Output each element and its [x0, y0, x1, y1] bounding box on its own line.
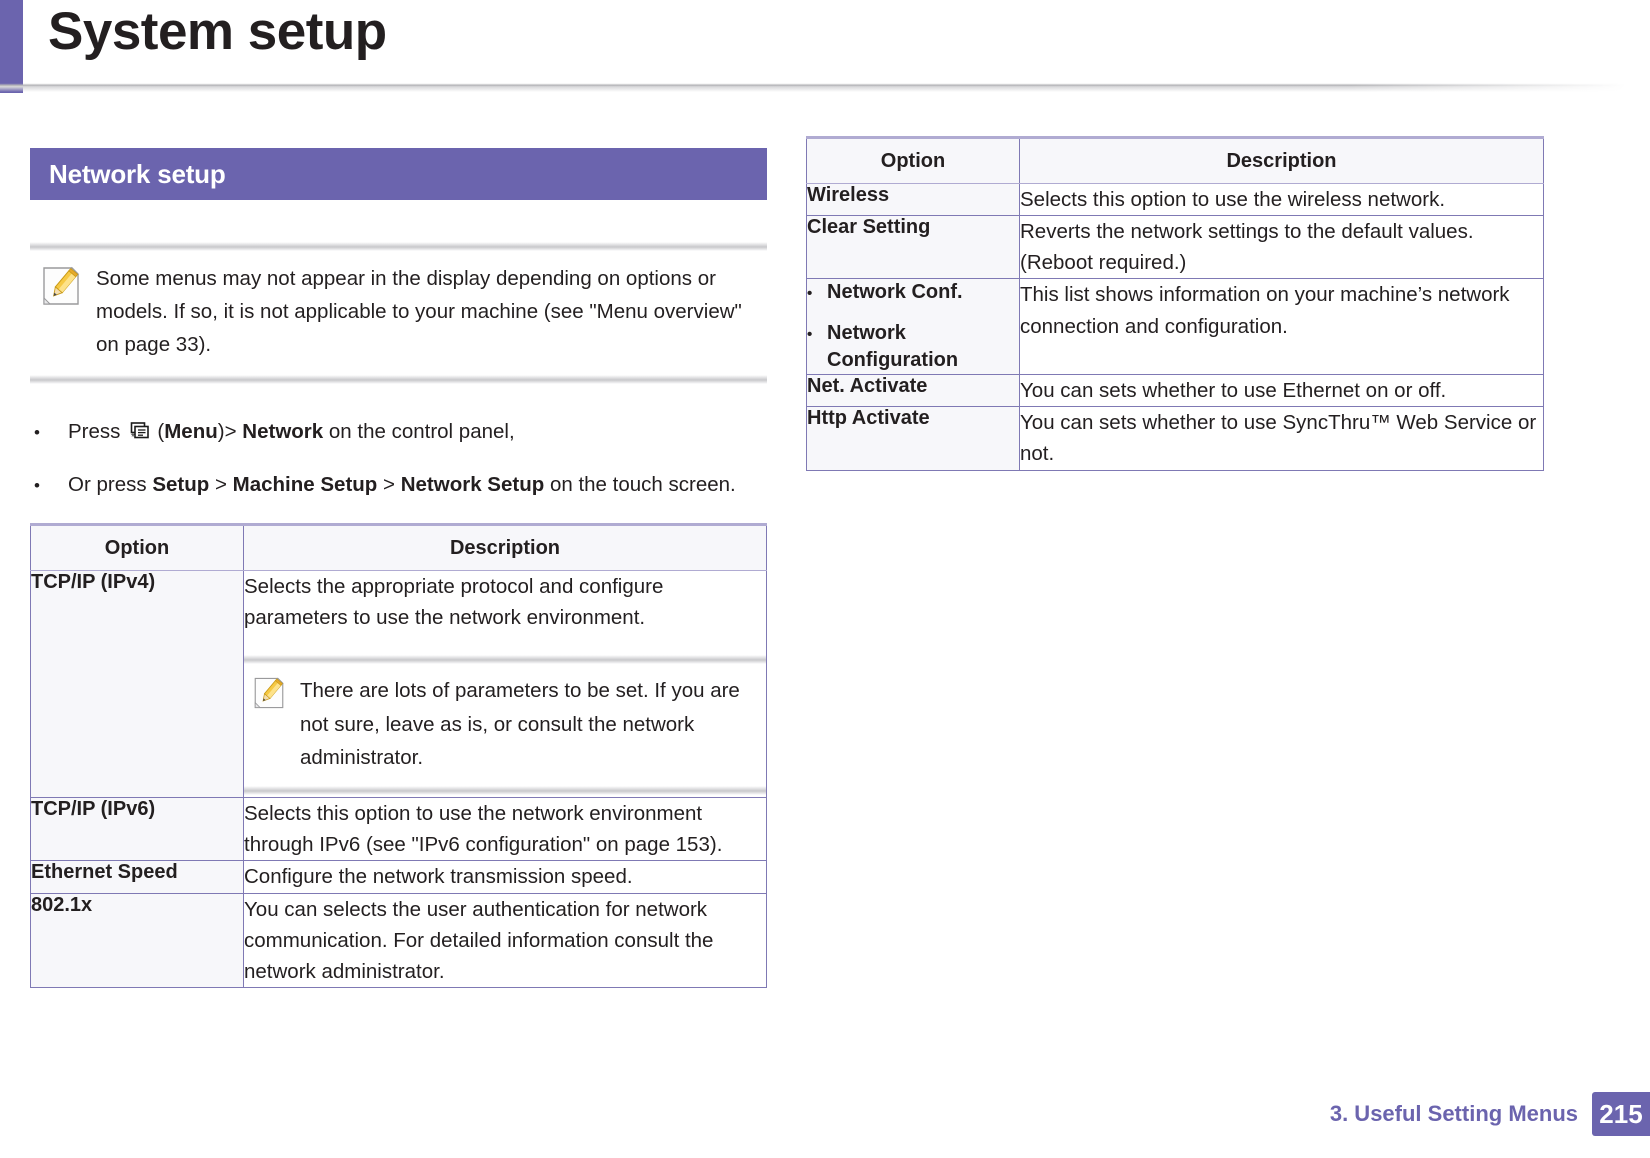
bullet-dot-icon: •	[807, 285, 827, 302]
svg-text:*: *	[131, 432, 135, 442]
bullet-text: Press*(Menu)> Network on the control pan…	[68, 416, 767, 448]
column-header-description: Description	[1020, 138, 1544, 184]
bullet-bold-setup: Setup	[152, 473, 209, 496]
table-row: 802.1x You can selects the user authenti…	[31, 893, 767, 987]
table-row: Http Activate You can sets whether to us…	[807, 407, 1544, 470]
note-pencil-icon	[40, 265, 82, 307]
option-cell: • Network Conf. • Network Configuration	[807, 279, 1020, 375]
bullet-text: Or press Setup > Machine Setup > Network…	[68, 469, 767, 501]
option-cell: Clear Setting	[807, 216, 1020, 279]
inner-note-text: There are lots of parameters to be set. …	[286, 674, 766, 774]
description-cell: Configure the network transmission speed…	[244, 861, 767, 893]
description-cell: This list shows information on your mach…	[1020, 279, 1544, 375]
bullet-bold-network-setup: Network Setup	[401, 473, 545, 496]
option-cell: Net. Activate	[807, 375, 1020, 407]
description-cell: You can sets whether to use SyncThru™ We…	[1020, 407, 1544, 470]
list-item: • Network Conf.	[807, 279, 1019, 306]
note-text: Some menus may not appear in the display…	[82, 262, 767, 362]
description-cell: Reverts the network settings to the defa…	[1020, 216, 1544, 279]
list-item: • Or press Setup > Machine Setup > Netwo…	[30, 469, 767, 501]
option-cell: TCP/IP (IPv4)	[31, 571, 244, 798]
section-banner: Network setup	[30, 148, 767, 200]
list-item: • Press*(Menu)> Network on the control p…	[30, 416, 767, 448]
table-row: TCP/IP (IPv4) Selects the appropriate pr…	[31, 571, 767, 798]
option-cell: 802.1x	[31, 893, 244, 987]
bullet-paren-close: )>	[218, 420, 237, 443]
bullet-dot-icon: •	[30, 420, 68, 446]
page-footer: 3. Useful Setting Menus 215	[1330, 1092, 1650, 1136]
bullet-bold-machine-setup: Machine Setup	[233, 473, 378, 496]
inner-note-top-rule	[244, 655, 766, 664]
note-bottom-rule	[30, 375, 767, 384]
bullet-prefix: Press	[68, 420, 120, 443]
table-row: Ethernet Speed Configure the network tra…	[31, 861, 767, 893]
description-cell: You can sets whether to use Ethernet on …	[1020, 375, 1544, 407]
sub-bullet-label: Network Configuration	[827, 320, 1019, 374]
bullet-prefix: Or press	[68, 473, 147, 496]
menu-icon: *	[130, 420, 152, 442]
note-top-rule	[30, 242, 767, 251]
left-column: Network setup Some menus	[30, 148, 767, 988]
column-header-option: Option	[807, 138, 1020, 184]
bullet-suffix: on the touch screen.	[550, 473, 736, 496]
table-header-row: Option Description	[31, 525, 767, 571]
table-header-row: Option Description	[807, 138, 1544, 184]
right-options-table: Option Description Wireless Selects this…	[806, 136, 1544, 471]
instruction-bullet-list: • Press*(Menu)> Network on the control p…	[30, 416, 767, 502]
description-cell: You can selects the user authentication …	[244, 893, 767, 987]
description-cell: Selects this option to use the wireless …	[1020, 184, 1544, 216]
left-options-table: Option Description TCP/IP (IPv4) Selects…	[30, 523, 767, 988]
sub-bullet-label: Network Conf.	[827, 279, 1019, 306]
table-row: Wireless Selects this option to use the …	[807, 184, 1544, 216]
footer-chapter-label: 3. Useful Setting Menus	[1330, 1092, 1592, 1136]
option-sub-bullet-list: • Network Conf. • Network Configuration	[807, 279, 1019, 374]
description-cell: Selects this option to use the network e…	[244, 798, 767, 861]
description-text: Selects the appropriate protocol and con…	[244, 571, 766, 633]
bullet-bold-menu: Menu	[164, 420, 218, 443]
page-header: System setup	[0, 0, 1650, 120]
column-header-option: Option	[31, 525, 244, 571]
bullet-dot-icon: •	[807, 326, 827, 343]
option-cell: Wireless	[807, 184, 1020, 216]
note-box: Some menus may not appear in the display…	[30, 242, 767, 384]
table-row: • Network Conf. • Network Configuration …	[807, 279, 1544, 375]
column-header-description: Description	[244, 525, 767, 571]
section-banner-label: Network setup	[30, 159, 226, 190]
header-divider-rule	[0, 78, 1650, 92]
table-row: TCP/IP (IPv6) Selects this option to use…	[31, 798, 767, 861]
bullet-bold-network: Network	[242, 420, 323, 443]
option-cell: TCP/IP (IPv6)	[31, 798, 244, 861]
bullet-sep-2: >	[383, 473, 395, 496]
right-column: Option Description Wireless Selects this…	[806, 136, 1544, 471]
option-cell: Ethernet Speed	[31, 861, 244, 893]
bullet-dot-icon: •	[30, 473, 68, 499]
list-item: • Network Configuration	[807, 320, 1019, 374]
inner-note-box: There are lots of parameters to be set. …	[244, 655, 766, 795]
description-cell: Selects the appropriate protocol and con…	[244, 571, 767, 798]
page-number-badge: 215	[1592, 1092, 1650, 1136]
page-title: System setup	[48, 2, 387, 63]
table-row: Net. Activate You can sets whether to us…	[807, 375, 1544, 407]
table-row: Clear Setting Reverts the network settin…	[807, 216, 1544, 279]
bullet-sep-1: >	[215, 473, 227, 496]
option-cell: Http Activate	[807, 407, 1020, 470]
bullet-suffix: on the control panel,	[329, 420, 515, 443]
inner-note-bottom-rule	[244, 786, 766, 795]
note-pencil-icon	[252, 676, 286, 710]
